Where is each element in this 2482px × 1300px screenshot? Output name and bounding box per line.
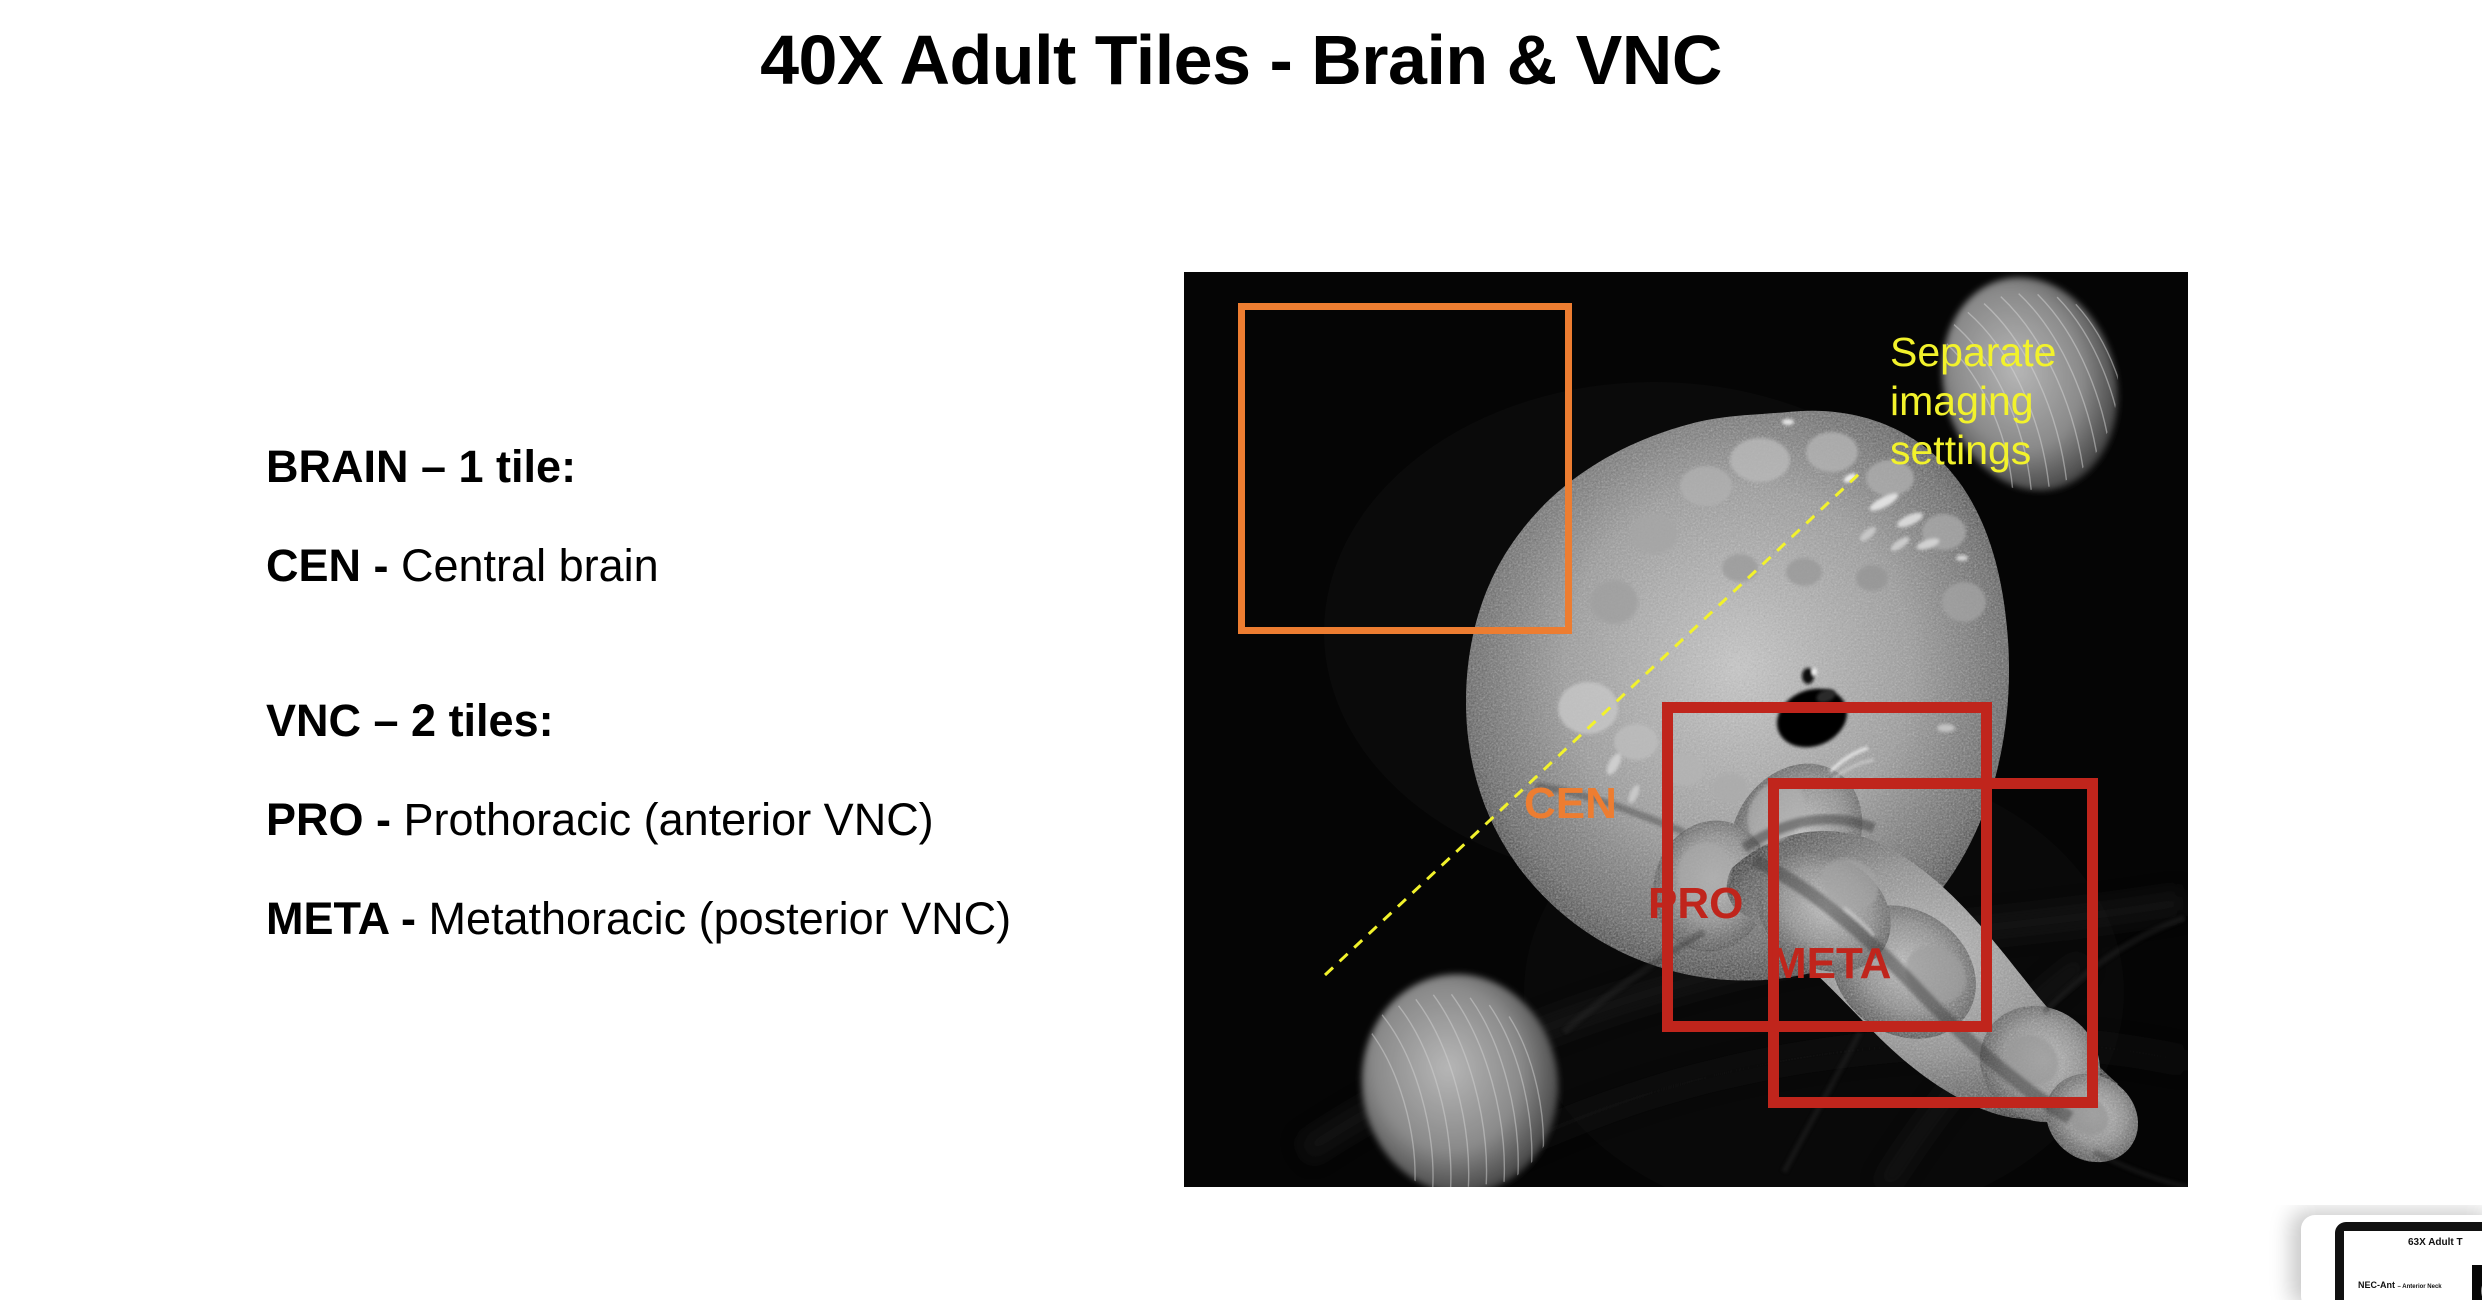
roi-box-cen[interactable] [1238,303,1572,634]
thumbnail-page: 63X Adult T NEC-Ant – Anterior Neck NEC-… [2344,1231,2482,1300]
thumbnail-micrograph [2472,1265,2482,1300]
legend-item-meta-description: Metathoracic (posterior VNC) [428,893,1011,944]
brain-heading: BRAIN – 1 tile: [266,444,1106,489]
next-slide-thumbnail[interactable]: 63X Adult T NEC-Ant – Anterior Neck NEC-… [2255,1205,2482,1300]
thumbnail-title: 63X Adult T [2408,1237,2463,1248]
legend-item-cen: CEN - Central brain [266,543,1106,588]
spacer [266,489,1106,543]
legend-item-pro-description: Prothoracic (anterior VNC) [404,794,934,845]
thumbnail-row-nec-pos: NEC-Pos – Posterior Neck [2358,1294,2446,1300]
micrograph-panel: CEN PRO META Separate imaging settings [1184,272,2188,1187]
spacer [266,743,1106,797]
thumbnail-micrograph-svg [2472,1265,2482,1300]
thumbnail-frame: 63X Adult T NEC-Ant – Anterior Neck NEC-… [2335,1222,2482,1300]
legend-item-pro: PRO - Prothoracic (anterior VNC) [266,797,1106,842]
vnc-heading: VNC – 2 tiles: [266,698,1106,743]
note-line-2: imaging [1890,377,2150,426]
legend-item-meta: META - Metathoracic (posterior VNC) [266,896,1106,941]
roi-label-cen: CEN [1524,782,1617,826]
legend-item-cen-description: Central brain [401,540,659,591]
roi-label-pro: PRO [1648,882,1743,926]
thumbnail-row-nec-ant-code: NEC-Ant [2358,1280,2398,1290]
thumbnail-row-nec-ant-description: – Anterior Neck [2398,1284,2442,1290]
page-title: 40X Adult Tiles - Brain & VNC [0,22,2482,99]
spacer [266,842,1106,896]
legend-block: BRAIN – 1 tile: CEN - Central brain VNC … [266,444,1106,941]
roi-label-meta: META [1770,942,1891,986]
legend-item-cen-code: CEN - [266,540,401,591]
spacer [266,588,1106,698]
separate-imaging-settings-note: Separate imaging settings [1890,328,2150,476]
thumbnail-row-nec-ant: NEC-Ant – Anterior Neck [2358,1275,2442,1293]
legend-item-meta-code: META - [266,893,428,944]
note-line-3: settings [1890,426,2150,475]
note-line-1: Separate [1890,328,2150,377]
legend-item-pro-code: PRO - [266,794,404,845]
